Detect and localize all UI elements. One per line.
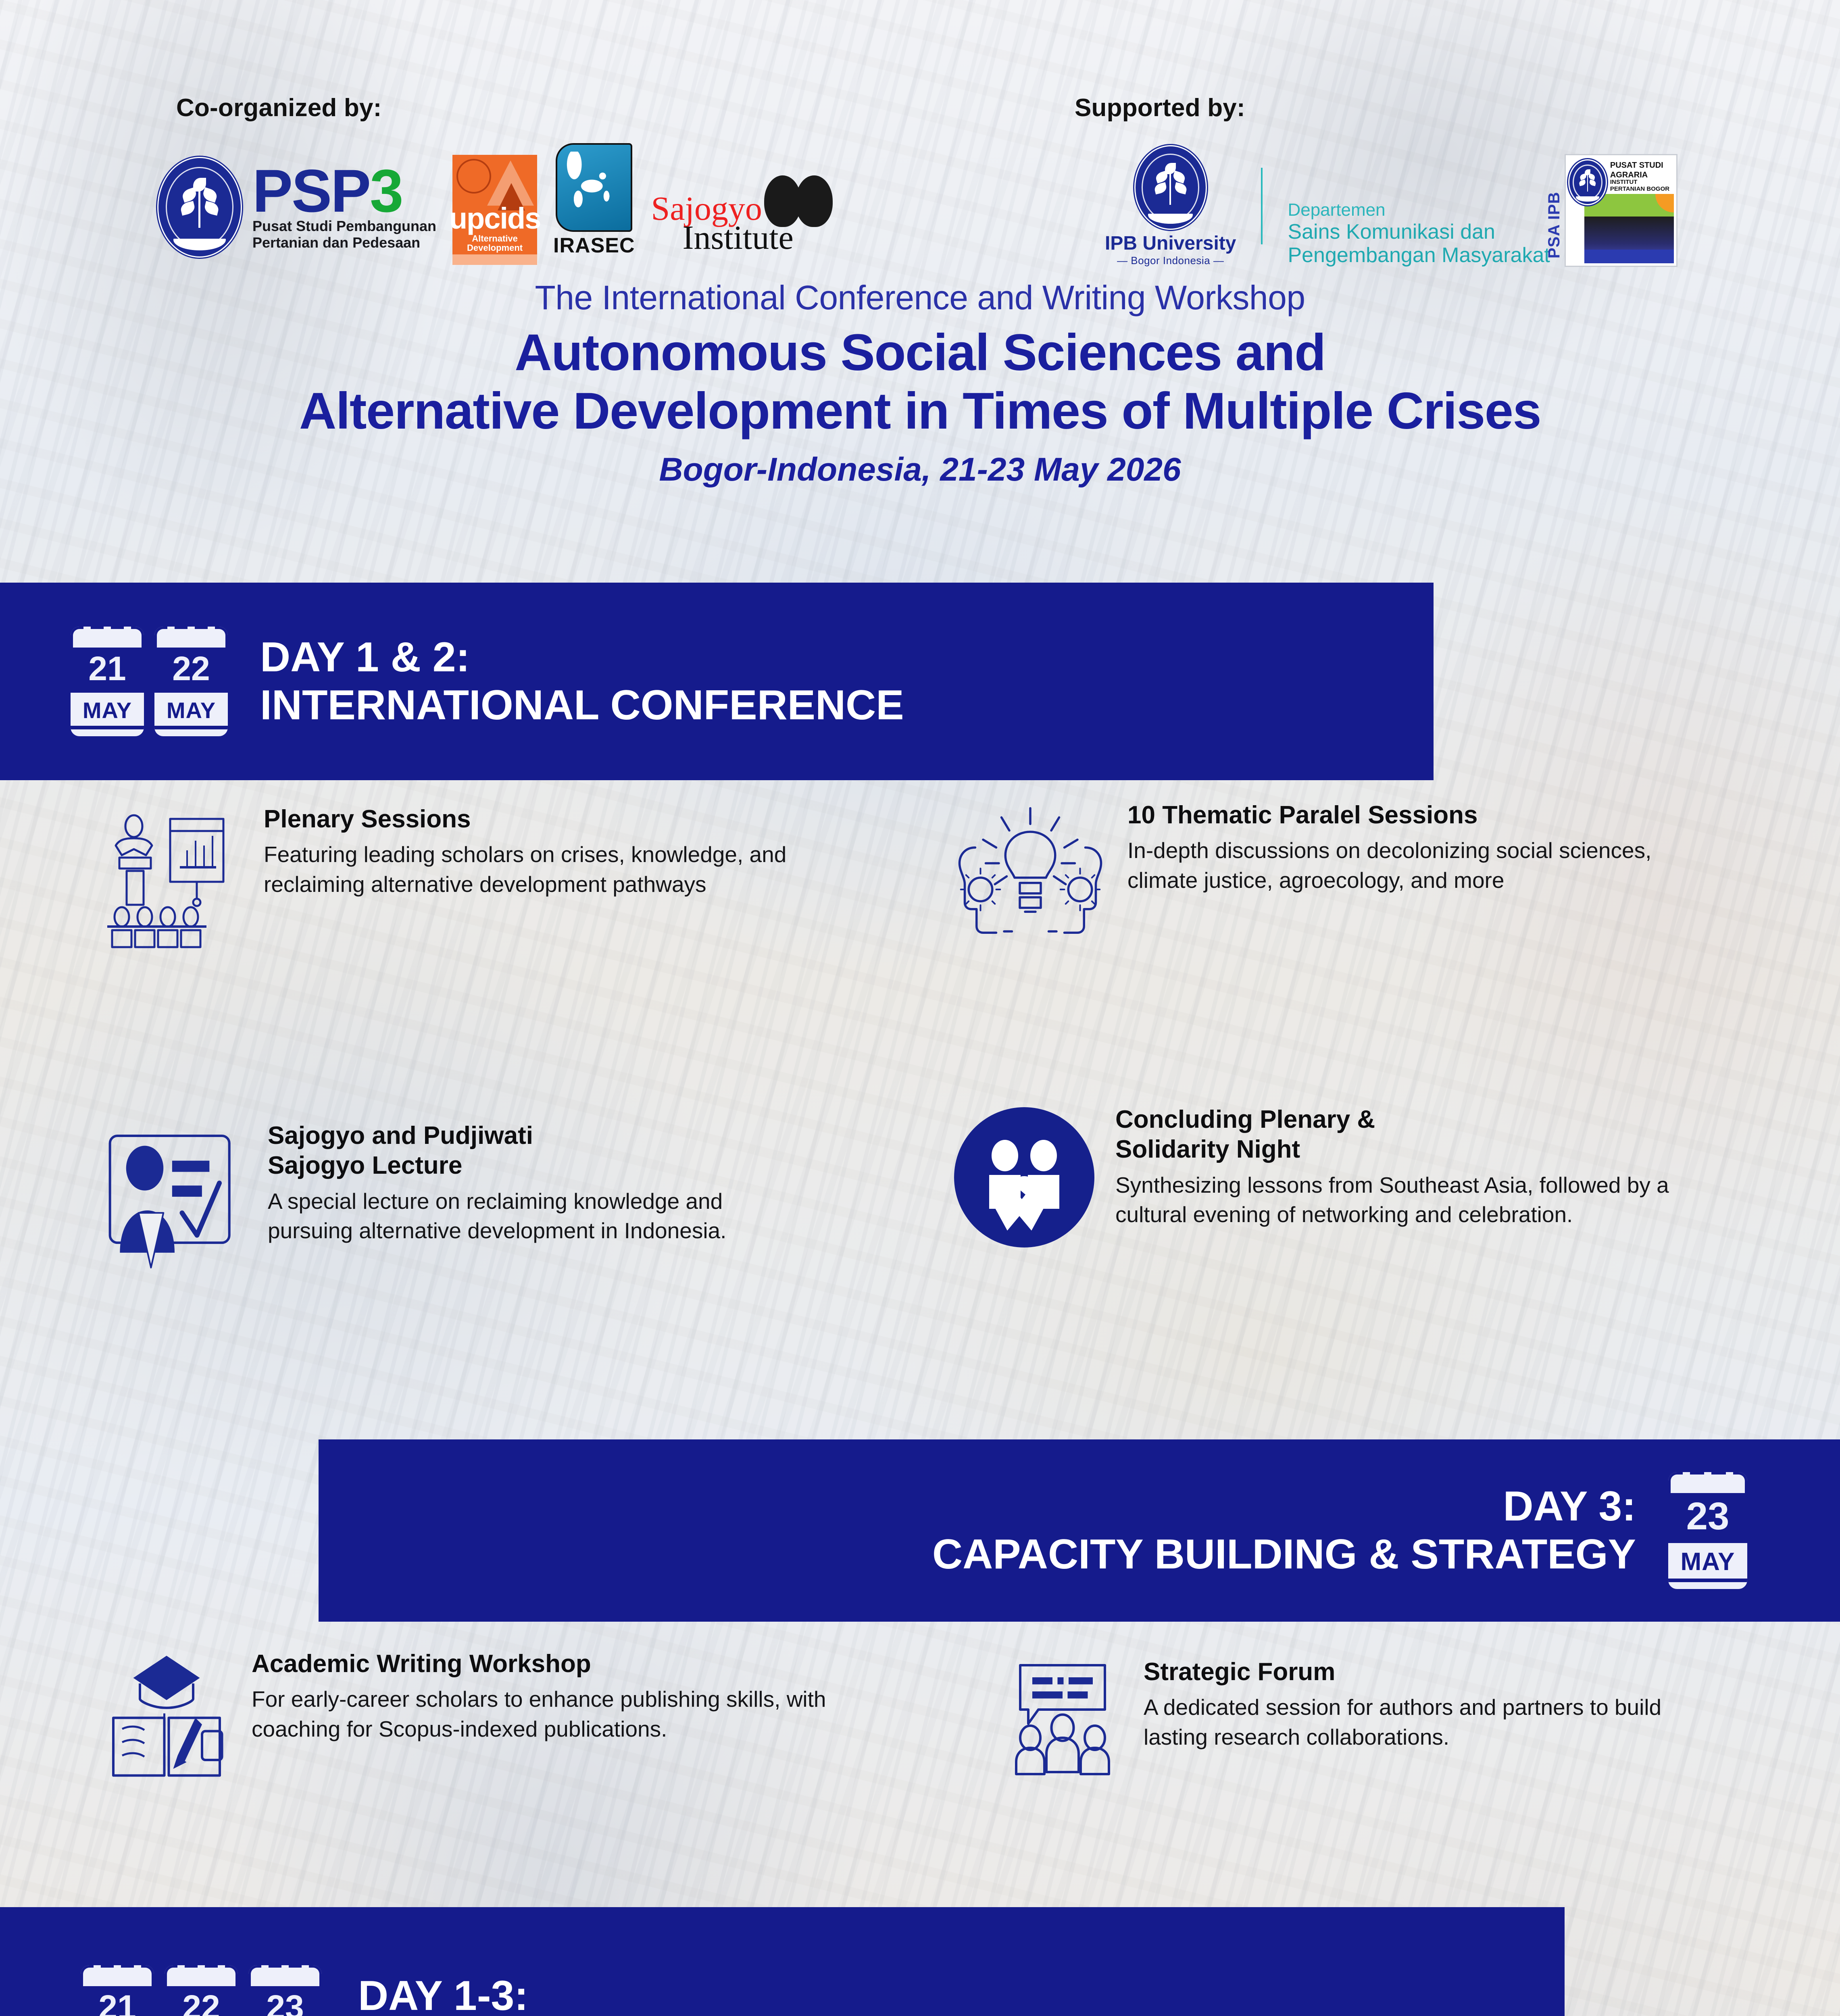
banner-day12-line-2: INTERNATIONAL CONFERENCE bbox=[260, 681, 904, 729]
supported-by-label: Supported by: bbox=[1075, 94, 1245, 122]
ipb-university-name: IPB University bbox=[1105, 232, 1236, 254]
title-line-1: Autonomous Social Sciences and bbox=[0, 324, 1840, 382]
conference-eyebrow: The International Conference and Writing… bbox=[0, 278, 1840, 317]
co-organized-label: Co-organized by: bbox=[176, 94, 382, 122]
handshake-solidarity-icon bbox=[952, 1105, 1097, 1250]
item-body: Synthesizing lessons from Southeast Asia… bbox=[1115, 1170, 1677, 1230]
lightbulb-heads-icon bbox=[952, 800, 1109, 958]
banner-exhibitions: 21 MAY 22 MAY 23 MAY DAY 1-3: EXHIBITION… bbox=[0, 1907, 1565, 2016]
item-title: Plenary Sessions bbox=[264, 804, 806, 834]
psa-title: PUSAT STUDI AGRARIA bbox=[1610, 161, 1674, 180]
logo-divider bbox=[1261, 168, 1263, 244]
calendar-day: 22 bbox=[165, 1986, 238, 2016]
item-title: Concluding Plenary &Solidarity Night bbox=[1115, 1105, 1677, 1165]
item-body: A special lecture on reclaiming knowledg… bbox=[268, 1187, 810, 1246]
logo-psa-ipb: PUSAT STUDI AGRARIA INSTITUT PERTANIAN B… bbox=[1565, 154, 1677, 267]
title-block: The International Conference and Writing… bbox=[0, 278, 1840, 489]
institute-wordmark: Institute bbox=[683, 218, 794, 257]
banner-day12-title: DAY 1 & 2: INTERNATIONAL CONFERENCE bbox=[260, 633, 904, 729]
banner-day-3: DAY 3: CAPACITY BUILDING & STRATEGY 23 M… bbox=[319, 1439, 1840, 1622]
logo-departemen-skpm: Departemen Sains Komunikasi dan Pengemba… bbox=[1288, 200, 1550, 267]
ipb-seal-icon bbox=[1568, 159, 1607, 205]
psa-subtitle: INSTITUT PERTANIAN BOGOR bbox=[1610, 179, 1674, 192]
banner-exhibitions-line-1: DAY 1-3: bbox=[358, 1972, 626, 2016]
banner-day12-line-1: DAY 1 & 2: bbox=[260, 633, 904, 681]
item-body: For early-career scholars to enhance pub… bbox=[252, 1685, 902, 1744]
calendar-day: 23 bbox=[248, 1986, 322, 2016]
upcids-subline: Alternative Development bbox=[467, 234, 523, 253]
banner-exhibitions-title: DAY 1-3: EXHIBITIONS bbox=[358, 1972, 626, 2016]
discussion-panel-icon bbox=[1004, 1657, 1125, 1778]
item-title: Academic Writing Workshop bbox=[252, 1649, 902, 1679]
calendar-day: 23 bbox=[1668, 1493, 1747, 1543]
calendar-icon-23-may: 23 MAY bbox=[1668, 1472, 1747, 1589]
calendar-group-day3: 23 MAY bbox=[1668, 1472, 1747, 1589]
item-title: Strategic Forum bbox=[1144, 1657, 1714, 1687]
podium-presentation-icon bbox=[100, 804, 245, 950]
calendar-icon-22-may: 22 MAY bbox=[165, 1965, 238, 2016]
whiteboard-lecturer-icon bbox=[100, 1121, 249, 1270]
psa-side-wordmark: PSA IPB bbox=[1545, 192, 1563, 258]
banner-day3-line-1: DAY 3: bbox=[932, 1483, 1636, 1531]
calendar-icon-22-may: 22 MAY bbox=[154, 627, 228, 736]
departemen-line-3: Pengembangan Masyarakat bbox=[1288, 244, 1550, 267]
ipb-seal-icon bbox=[1134, 145, 1207, 230]
calendar-icon-23-may: 23 MAY bbox=[248, 1965, 322, 2016]
psp3-wordmark: PSP3 bbox=[252, 164, 436, 218]
calendar-group-exhibitions: 21 MAY 22 MAY 23 MAY bbox=[81, 1965, 322, 2016]
item-sajogyo-lecture: Sajogyo and PudjiwatiSajogyo Lecture A s… bbox=[100, 1121, 810, 1270]
irasec-map-icon bbox=[556, 143, 632, 232]
up-seal-icon bbox=[456, 159, 491, 194]
psp3-subline-2: Pertanian dan Pedesaan bbox=[252, 235, 436, 251]
ipb-seal-icon bbox=[157, 157, 242, 258]
item-plenary-sessions: Plenary Sessions Featuring leading schol… bbox=[100, 804, 806, 950]
calendar-day: 21 bbox=[81, 1986, 154, 2016]
banner-day3-line-2: CAPACITY BUILDING & STRATEGY bbox=[932, 1531, 1636, 1579]
logo-irasec: IRASEC bbox=[553, 143, 635, 258]
conference-location-dates: Bogor-Indonesia, 21-23 May 2026 bbox=[0, 451, 1840, 489]
calendar-month: MAY bbox=[71, 693, 144, 726]
calendar-month: MAY bbox=[1668, 1543, 1747, 1579]
calendar-group-day12: 21 MAY 22 MAY bbox=[71, 627, 228, 736]
departemen-line-1: Departemen bbox=[1288, 200, 1550, 220]
graduate-book-pen-icon bbox=[100, 1649, 233, 1782]
item-body: In-depth discussions on decolonizing soc… bbox=[1127, 836, 1661, 895]
calendar-icon-21-may: 21 MAY bbox=[71, 627, 144, 736]
psp3-subline-1: Pusat Studi Pembangunan bbox=[252, 218, 436, 234]
logo-ipb-university: IPB University — Bogor Indonesia — bbox=[1105, 145, 1236, 267]
calendar-day: 21 bbox=[71, 648, 144, 693]
item-body: A dedicated session for authors and part… bbox=[1144, 1693, 1714, 1752]
logo-psp3: PSP3 Pusat Studi Pembangunan Pertanian d… bbox=[157, 157, 436, 258]
calendar-icon-21-may: 21 MAY bbox=[81, 1965, 154, 2016]
irasec-wordmark: IRASEC bbox=[553, 233, 635, 258]
item-body: Featuring leading scholars on crises, kn… bbox=[264, 840, 806, 899]
upcids-wordmark: upcids bbox=[449, 206, 540, 231]
page-title: Autonomous Social Sciences and Alternati… bbox=[0, 324, 1840, 440]
departemen-line-2: Sains Komunikasi dan bbox=[1288, 220, 1550, 244]
item-thematic-sessions: 10 Thematic Paralel Sessions In-depth di… bbox=[952, 800, 1661, 958]
banner-day-1-2: 21 MAY 22 MAY DAY 1 & 2: INTERNATIONAL C… bbox=[0, 583, 1434, 780]
banner-day3-title: DAY 3: CAPACITY BUILDING & STRATEGY bbox=[932, 1483, 1636, 1578]
co-organizer-logo-row: PSP3 Pusat Studi Pembangunan Pertanian d… bbox=[157, 143, 845, 258]
item-title: Sajogyo and PudjiwatiSajogyo Lecture bbox=[268, 1121, 810, 1181]
item-academic-writing-workshop: Academic Writing Workshop For early-care… bbox=[100, 1649, 902, 1782]
title-line-2: Alternative Development in Times of Mult… bbox=[0, 382, 1840, 441]
item-concluding-plenary: Concluding Plenary &Solidarity Night Syn… bbox=[952, 1105, 1677, 1250]
logo-upcids: upcids Alternative Development bbox=[452, 155, 537, 258]
poster-header: Co-organized by: Supported by: PSP3 Pusa… bbox=[0, 0, 1840, 282]
supporter-logo-row: IPB University — Bogor Indonesia — Depar… bbox=[1105, 145, 1677, 267]
calendar-month: MAY bbox=[154, 693, 228, 726]
ipb-university-subtitle: — Bogor Indonesia — bbox=[1117, 254, 1224, 267]
calendar-day: 22 bbox=[154, 648, 228, 693]
item-strategic-forum: Strategic Forum A dedicated session for … bbox=[1004, 1657, 1714, 1778]
logo-sajogyo-institute: Sajogyo Institute bbox=[651, 173, 845, 258]
item-title: 10 Thematic Paralel Sessions bbox=[1127, 800, 1661, 830]
